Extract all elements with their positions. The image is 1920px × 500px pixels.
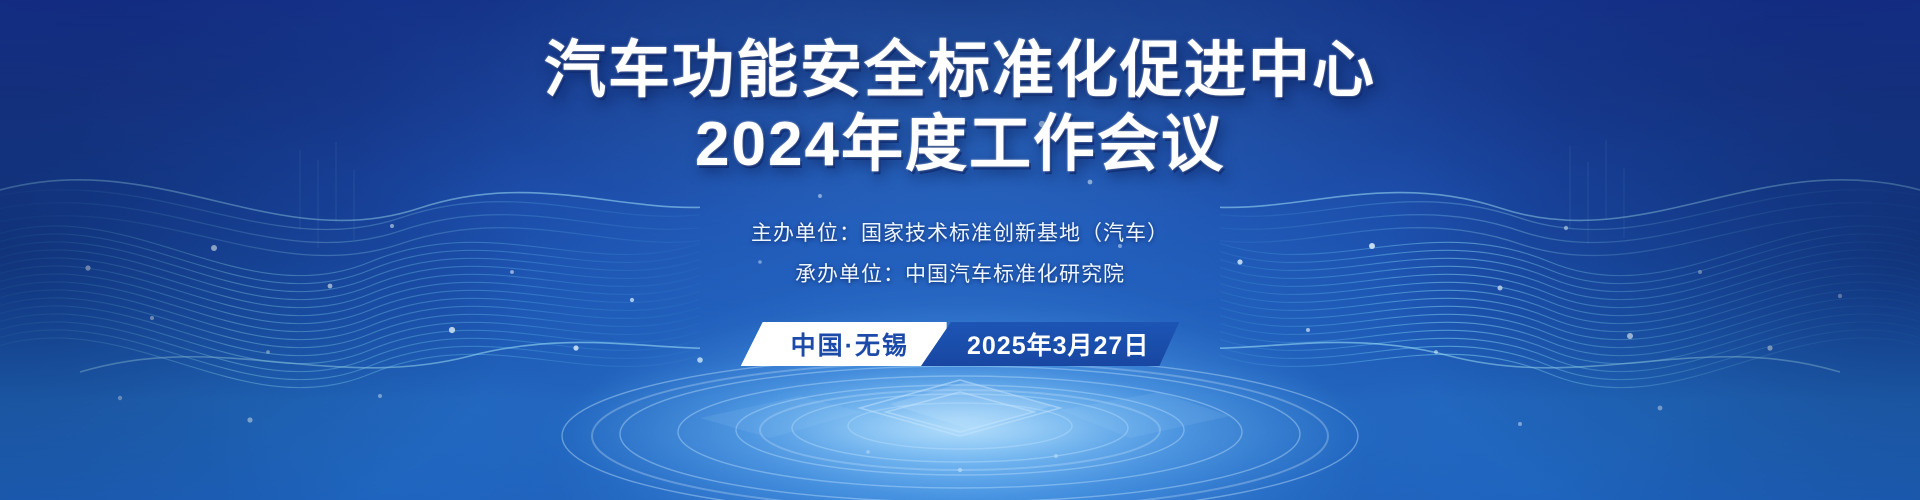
venue-date-badges: 中国·无锡 2025年3月27日 xyxy=(741,322,1180,366)
date-badge-label: 2025年3月27日 xyxy=(967,326,1149,362)
location-badge: 中国·无锡 xyxy=(741,322,947,366)
host-line: 承办单位：中国汽车标准化研究院 xyxy=(0,255,1920,296)
banner-content: 汽车功能安全标准化促进中心 2024年度工作会议 主办单位：国家技术标准创新基地… xyxy=(0,0,1920,500)
conference-banner: 汽车功能安全标准化促进中心 2024年度工作会议 主办单位：国家技术标准创新基地… xyxy=(0,0,1920,500)
page-subtitle-year: 2024年度工作会议 xyxy=(0,112,1920,178)
organizer-block: 主办单位：国家技术标准创新基地（汽车） 承办单位：中国汽车标准化研究院 xyxy=(0,214,1920,296)
location-badge-label: 中国·无锡 xyxy=(791,326,909,362)
organizer-line: 主办单位：国家技术标准创新基地（汽车） xyxy=(0,214,1920,255)
title-block: 汽车功能安全标准化促进中心 2024年度工作会议 xyxy=(0,38,1920,177)
date-badge: 2025年3月27日 xyxy=(921,322,1179,366)
page-title: 汽车功能安全标准化促进中心 xyxy=(0,38,1920,104)
